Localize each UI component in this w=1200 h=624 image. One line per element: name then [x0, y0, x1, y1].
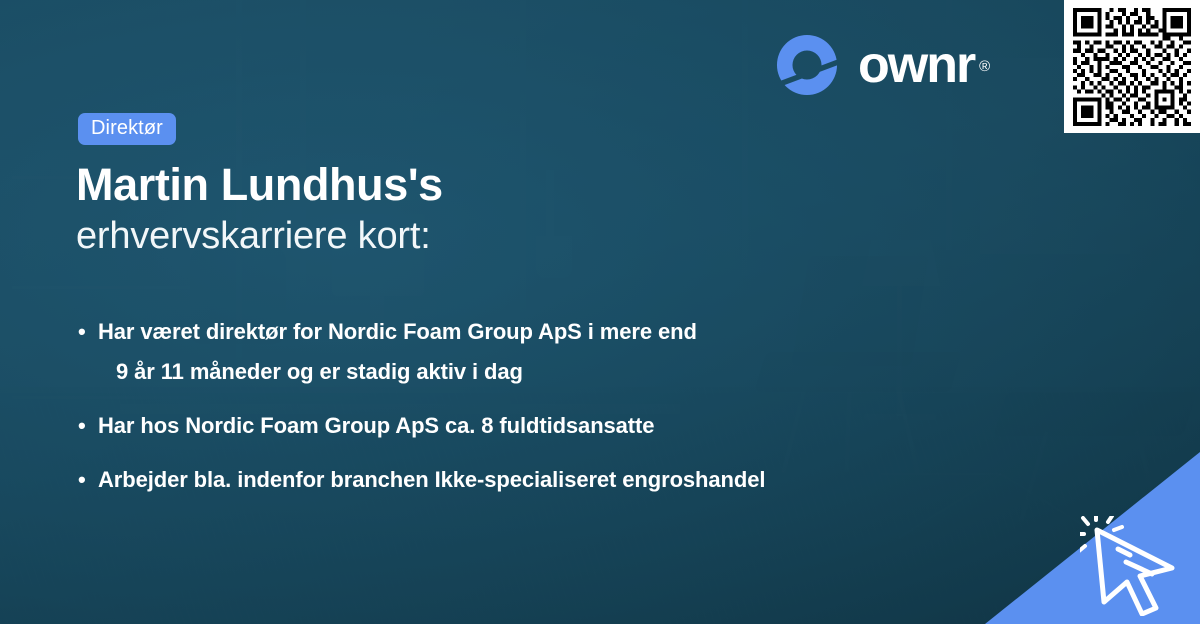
business-card: Direktør Martin Lundhus's erhvervskarrie… — [0, 0, 1200, 624]
list-item-line-1: Har været direktør for Nordic Foam Group… — [98, 319, 697, 344]
ownr-wordmark-text: ownr — [858, 36, 974, 94]
list-item-line-2: 9 år 11 måneder og er stadig aktiv i dag — [98, 352, 978, 392]
click-cursor-icon — [1080, 516, 1188, 616]
list-item-text: Har hos Nordic Foam Group ApS ca. 8 fuld… — [98, 406, 978, 446]
registered-trademark-icon: ® — [979, 41, 990, 93]
bullet-icon: • — [78, 312, 98, 352]
list-item: • Har hos Nordic Foam Group ApS ca. 8 fu… — [78, 406, 978, 446]
list-item-text: Har været direktør for Nordic Foam Group… — [98, 312, 978, 392]
facts-list: • Har været direktør for Nordic Foam Gro… — [78, 312, 978, 514]
ownr-wordmark: ownr® — [858, 39, 974, 91]
list-item-text: Arbejder bla. indenfor branchen Ikke-spe… — [98, 460, 978, 500]
qr-code-icon — [1073, 8, 1191, 126]
list-item: • Har været direktør for Nordic Foam Gro… — [78, 312, 978, 392]
ownr-mark-icon — [776, 34, 838, 96]
bullet-icon: • — [78, 460, 98, 500]
bullet-icon: • — [78, 406, 98, 446]
role-badge: Direktør — [78, 113, 176, 145]
page-subtitle: erhvervskarriere kort: — [76, 212, 431, 260]
page-title: Martin Lundhus's — [76, 158, 443, 212]
card-content: Direktør Martin Lundhus's erhvervskarrie… — [0, 0, 1200, 624]
qr-code-panel[interactable] — [1064, 0, 1200, 133]
list-item: • Arbejder bla. indenfor branchen Ikke-s… — [78, 460, 978, 500]
ownr-logo[interactable]: ownr® — [776, 34, 974, 96]
